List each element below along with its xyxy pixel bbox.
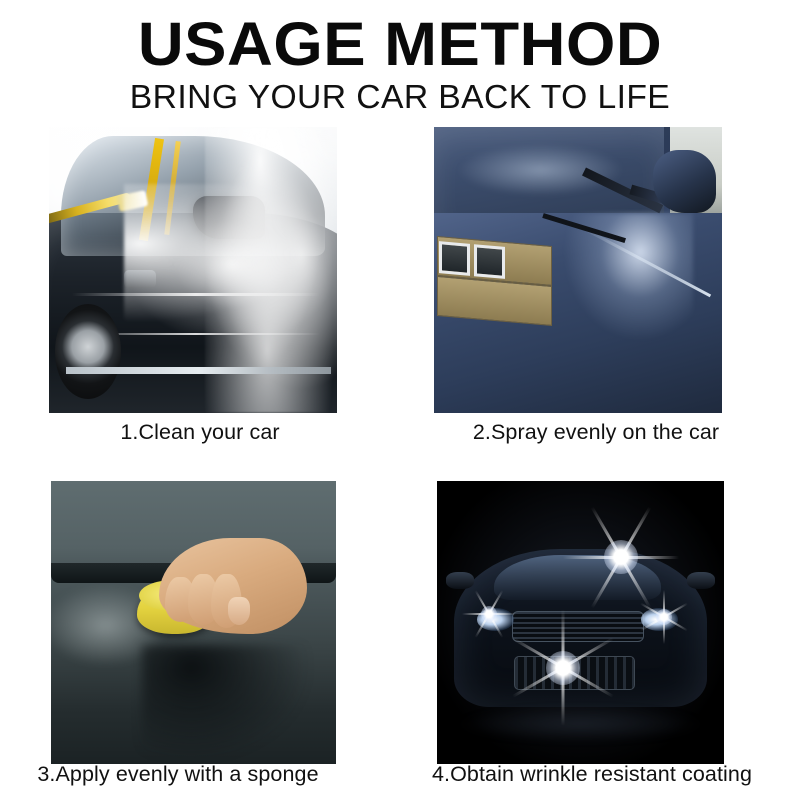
page-title: USAGE METHOD: [0, 0, 800, 76]
step-3-image: [51, 481, 336, 764]
step-2-caption: 2.Spray evenly on the car: [396, 419, 796, 445]
steps-grid: 1.Clean your car: [0, 127, 800, 799]
steps-row-2: 3.Apply evenly with a sponge: [0, 463, 800, 799]
step-cell-3: 3.Apply evenly with a sponge: [0, 463, 400, 799]
header: USAGE METHOD BRING YOUR CAR BACK TO LIFE: [0, 0, 800, 116]
hood-reflection: [142, 645, 307, 758]
page-subtitle: BRING YOUR CAR BACK TO LIFE: [0, 76, 800, 116]
step-1-caption: 1.Clean your car: [0, 419, 400, 445]
hood-highlight: [561, 213, 693, 345]
tape-square-left: [439, 241, 470, 276]
windshield-reflection: [457, 144, 624, 195]
side-mirror-left: [446, 572, 475, 589]
step-cell-2: 2.Spray evenly on the car: [400, 127, 800, 463]
upper-grille: [512, 611, 644, 642]
step-1-image: [49, 127, 337, 413]
step-4-caption: 4.Obtain wrinkle resistant coating: [392, 761, 792, 787]
step-3-caption: 3.Apply evenly with a sponge: [0, 761, 378, 787]
car-wheel: [55, 304, 121, 398]
steps-row-1: 1.Clean your car: [0, 127, 800, 463]
step-cell-1: 1.Clean your car: [0, 127, 400, 463]
ground-shadow: [460, 707, 701, 741]
side-mirror: [653, 150, 716, 213]
step-4-image: [437, 481, 724, 764]
tape-square-right: [474, 244, 505, 279]
step-cell-4: 4.Obtain wrinkle resistant coating: [400, 463, 800, 799]
step-2-image: [434, 127, 722, 413]
side-mirror-right: [687, 572, 716, 589]
infographic-page: USAGE METHOD BRING YOUR CAR BACK TO LIFE: [0, 0, 800, 800]
masking-tape-patch: [437, 236, 552, 326]
water-streak: [72, 293, 320, 296]
rocker-panel-trim: [66, 367, 331, 374]
